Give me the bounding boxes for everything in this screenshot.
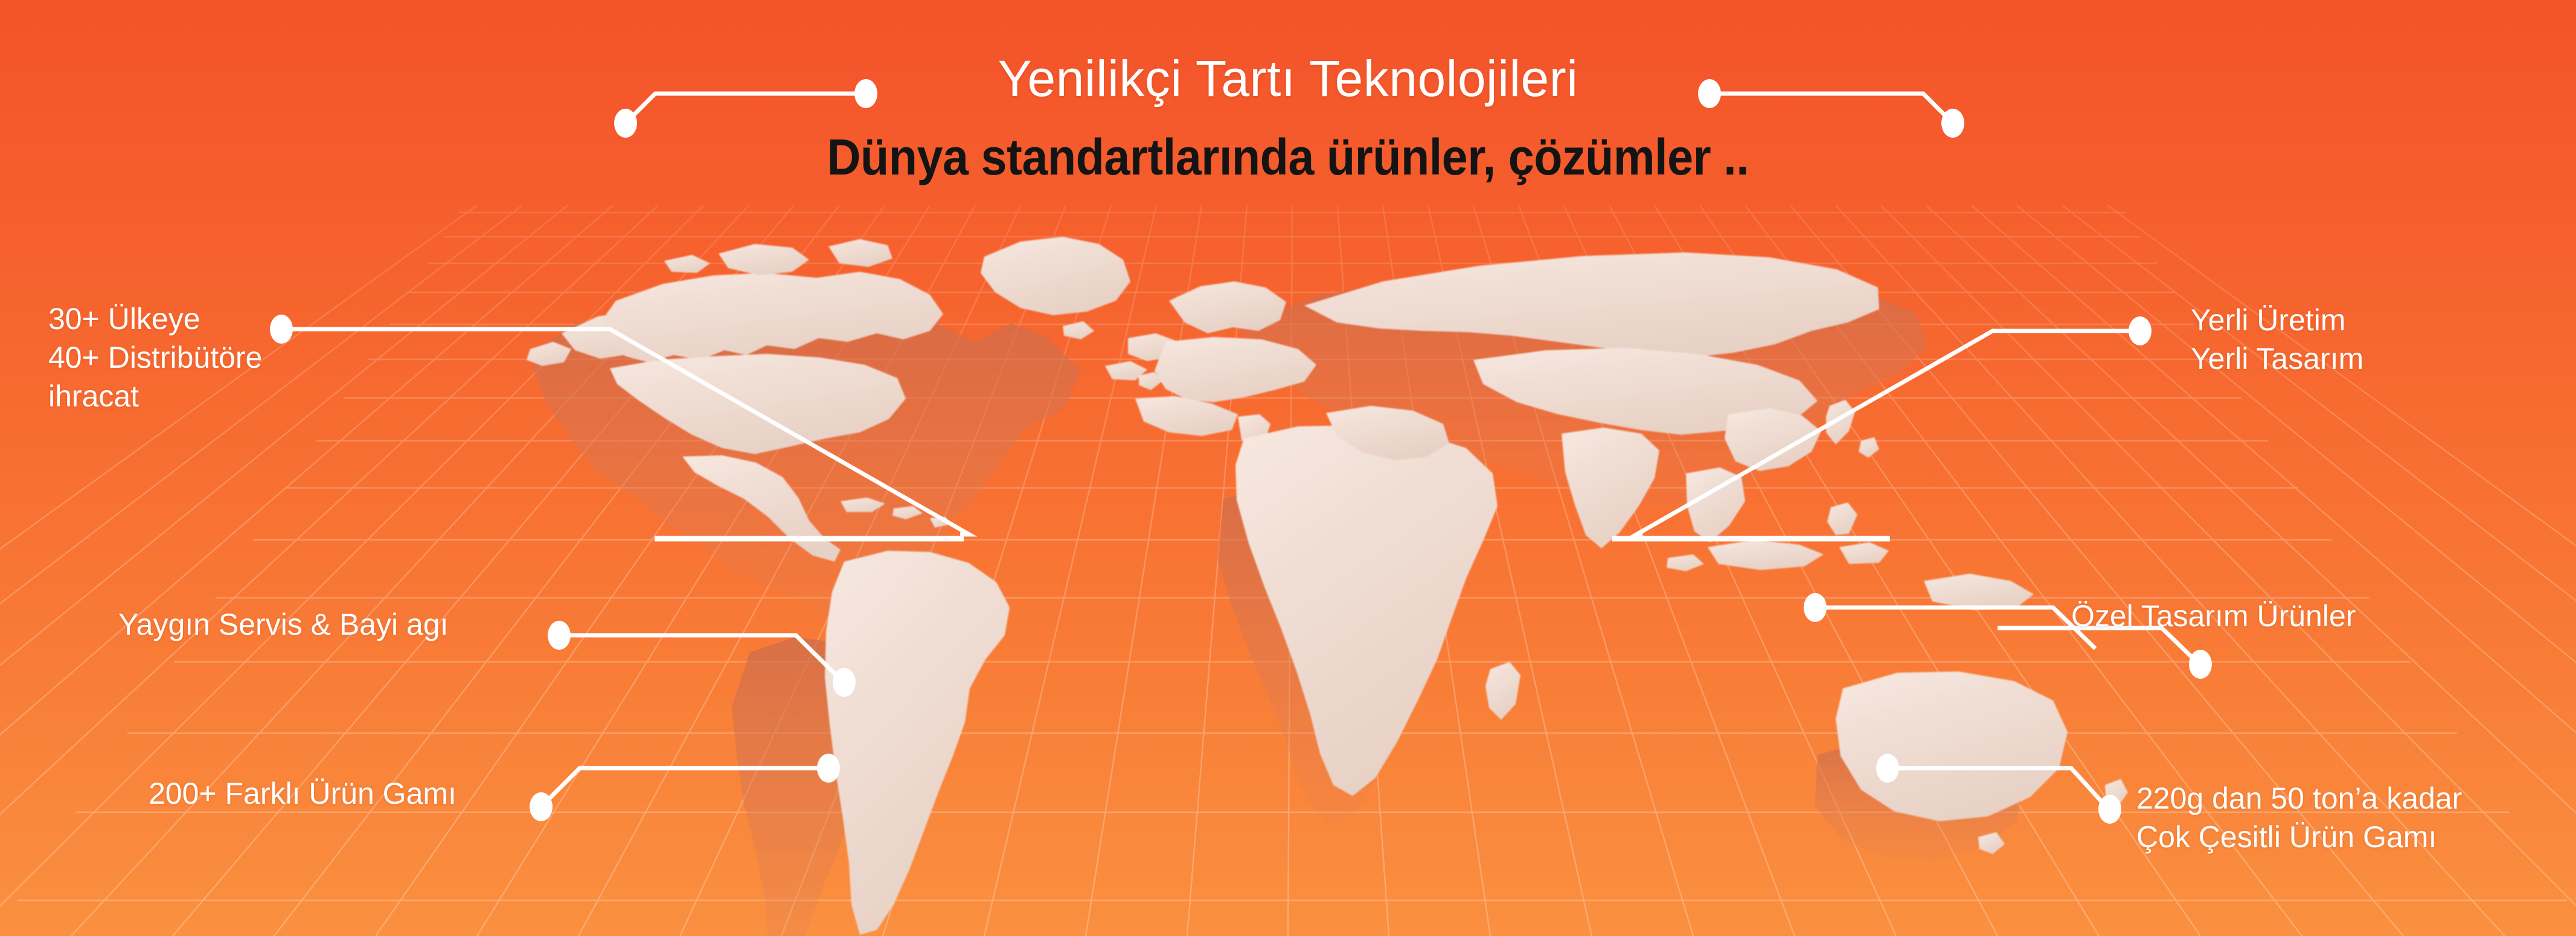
dot-capacity-map [1876, 754, 1899, 783]
page-subtitle: Dünya standartlarında ürünler, çözümler … [103, 132, 2473, 182]
callout-export-line-3: ihracat [48, 377, 262, 415]
dot-service-label [548, 621, 571, 650]
connector-service [562, 635, 842, 681]
dot-range-label [530, 792, 553, 821]
connector-export [284, 329, 969, 534]
callout-service-line-1: Yaygın Servis & Bayi agı [118, 605, 449, 644]
dot-export-label [270, 315, 293, 344]
connector-range [543, 768, 826, 804]
dot-range-map [817, 754, 840, 783]
callout-capacity-line-1: 220g dan 50 ton’a kadar [2136, 779, 2462, 818]
callout-local-line-2: Yerli Tasarım [2191, 339, 2363, 378]
callout-capacity-line-2: Çok Çesitli Ürün Gamı [2136, 818, 2462, 856]
dot-custom-label [2189, 650, 2212, 679]
callout-range: 200+ Farklı Ürün Gamı [149, 774, 457, 813]
connector-local [1633, 331, 2138, 536]
dot-local-label [2129, 316, 2151, 345]
dot-service-map [833, 668, 856, 697]
callout-capacity: 220g dan 50 ton’a kadar Çok Çesitli Ürün… [2136, 779, 2462, 856]
callout-export: 30+ Ülkeye 40+ Distribütöre ihracat [48, 300, 262, 415]
callout-export-line-1: 30+ Ülkeye [48, 300, 262, 338]
connector-capacity [1890, 768, 2107, 808]
callout-custom: Özel Tasarım Ürünler [2071, 597, 2356, 635]
callout-export-line-2: 40+ Distribütöre [48, 338, 262, 377]
callout-local-line-1: Yerli Üretim [2191, 301, 2363, 339]
callout-local: Yerli Üretim Yerli Tasarım [2191, 301, 2363, 378]
hero-banner: Yenilikçi Tartı Teknolojileri Dünya stan… [0, 0, 2576, 936]
dot-capacity-label [2098, 795, 2121, 824]
callout-service: Yaygın Servis & Bayi agı [118, 605, 449, 644]
callout-custom-line-1: Özel Tasarım Ürünler [2071, 597, 2356, 635]
callout-range-line-1: 200+ Farklı Ürün Gamı [149, 774, 457, 813]
page-title: Yenilikçi Tartı Teknolojileri [0, 53, 2576, 104]
